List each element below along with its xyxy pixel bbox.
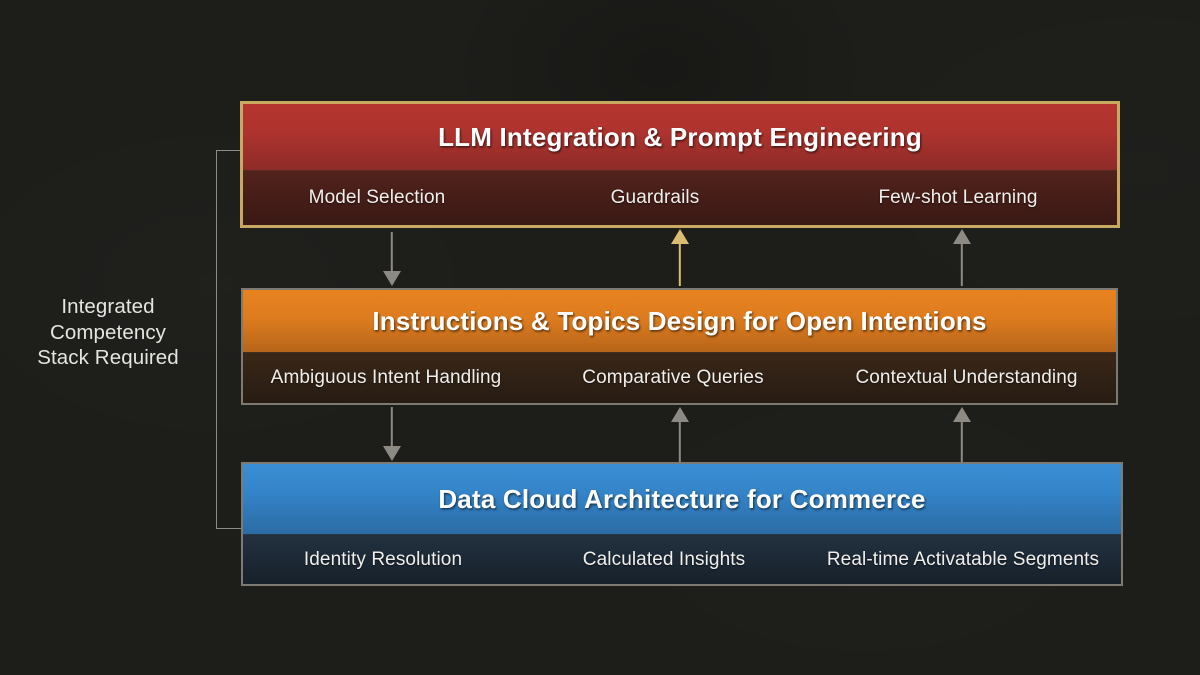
side-note-label: Integrated Competency Stack Required (20, 294, 196, 371)
tier-title-band-datacloud: Data Cloud Architecture for Commerce (243, 464, 1121, 534)
tier-items-datacloud: Identity Resolution Calculated Insights … (243, 534, 1121, 584)
tier-items-llm: Model Selection Guardrails Few-shot Lear… (243, 170, 1117, 225)
tier-item-realtime-activatable-segments[interactable]: Real-time Activatable Segments (805, 549, 1121, 571)
tier-item-ambiguous-intent-handling[interactable]: Ambiguous Intent Handling (243, 367, 529, 389)
tier-title-band-instructions: Instructions & Topics Design for Open In… (243, 290, 1116, 352)
arrow-shaft (679, 243, 681, 286)
tier-item-calculated-insights[interactable]: Calculated Insights (523, 549, 805, 571)
arrow-llm-to-instructions-down (382, 232, 402, 286)
arrow-head-up-icon (671, 229, 689, 244)
arrow-head-down-icon (383, 271, 401, 286)
tier-item-identity-resolution[interactable]: Identity Resolution (243, 549, 523, 571)
arrow-shaft (679, 421, 681, 462)
arrow-shaft (961, 243, 963, 286)
tier-card-llm[interactable]: LLM Integration & Prompt Engineering Mod… (240, 101, 1120, 228)
side-note-line-1: Integrated (20, 294, 196, 320)
arrow-shaft (391, 407, 393, 447)
tier-title-datacloud: Data Cloud Architecture for Commerce (438, 484, 925, 515)
side-note-line-2: Competency (20, 320, 196, 346)
arrow-head-up-icon (953, 407, 971, 422)
arrow-datacloud-to-instructions-right-up (952, 407, 972, 462)
tier-card-datacloud[interactable]: Data Cloud Architecture for Commerce Ide… (241, 462, 1123, 586)
arrow-instructions-to-datacloud-down (382, 407, 402, 461)
arrow-instructions-to-llm-right-up (952, 229, 972, 286)
arrow-head-up-icon (671, 407, 689, 422)
diagram-canvas: Integrated Competency Stack Required LLM… (0, 0, 1200, 675)
tier-title-llm: LLM Integration & Prompt Engineering (438, 122, 922, 153)
tier-item-guardrails[interactable]: Guardrails (511, 187, 799, 209)
tier-item-few-shot-learning[interactable]: Few-shot Learning (799, 187, 1117, 209)
arrow-head-down-icon (383, 446, 401, 461)
side-note-line-3: Stack Required (20, 345, 196, 371)
tier-title-band-llm: LLM Integration & Prompt Engineering (243, 104, 1117, 170)
tier-card-instructions[interactable]: Instructions & Topics Design for Open In… (241, 288, 1118, 405)
arrow-head-up-icon (953, 229, 971, 244)
arrow-shaft (391, 232, 393, 272)
tier-item-contextual-understanding[interactable]: Contextual Understanding (817, 367, 1116, 389)
tier-item-model-selection[interactable]: Model Selection (243, 187, 511, 209)
arrow-instructions-to-llm-center-up (670, 229, 690, 286)
tier-title-instructions: Instructions & Topics Design for Open In… (372, 306, 986, 337)
arrow-shaft (961, 421, 963, 462)
tier-item-comparative-queries[interactable]: Comparative Queries (529, 367, 817, 389)
arrow-datacloud-to-instructions-center-up (670, 407, 690, 462)
tier-items-instructions: Ambiguous Intent Handling Comparative Qu… (243, 352, 1116, 403)
